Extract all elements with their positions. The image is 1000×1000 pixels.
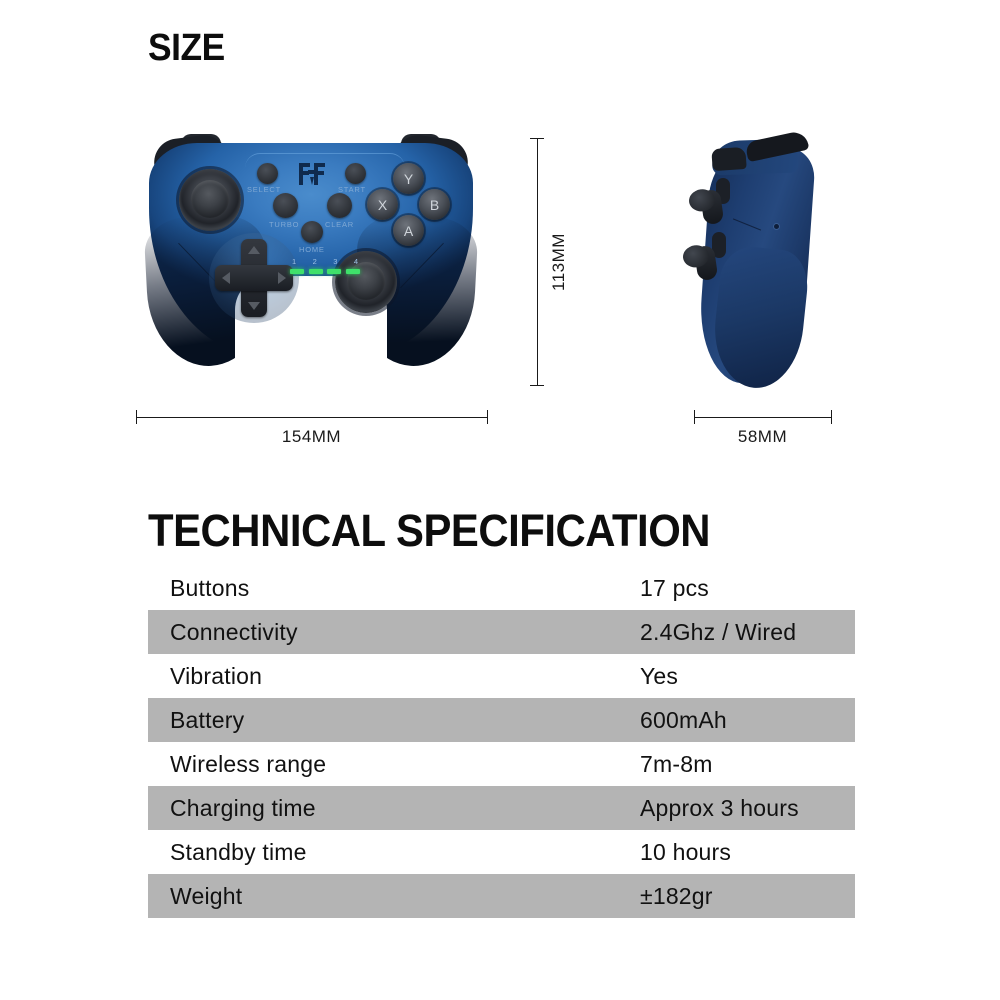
led-numbers: 1 2 3 4 (292, 257, 358, 266)
width-dimension-line (136, 417, 487, 418)
select-button (257, 163, 278, 184)
dpad-down-arrow-icon (248, 302, 260, 310)
spec-row-value: ±182gr (640, 883, 713, 910)
face-button-y: Y (393, 163, 424, 194)
led-number-2: 2 (313, 257, 317, 266)
spec-row-key: Battery (170, 707, 640, 734)
side-trigger-button (711, 147, 746, 171)
width-dimension-label: 154MM (136, 427, 487, 447)
height-dimension-label: 113MM (549, 222, 569, 302)
home-button-label: HOME (299, 245, 325, 254)
spec-row-value: Yes (640, 663, 678, 690)
width-dimension-tick-right (487, 410, 488, 424)
side-stick-cap-2 (682, 244, 711, 269)
depth-dimension-line (694, 417, 831, 418)
depth-dimension-tick-right (831, 410, 832, 424)
product-spec-sheet: SIZE (0, 0, 1000, 1000)
spec-row: VibrationYes (148, 654, 855, 698)
spec-row-value: Approx 3 hours (640, 795, 799, 822)
spec-row: Weight±182gr (148, 874, 855, 918)
left-stick-cap (191, 180, 229, 218)
controller-front-view: Y X B A SELECT START TURBO CLEAR HOME (135, 135, 487, 385)
dpad-up-arrow-icon (248, 246, 260, 254)
spec-row: Charging timeApprox 3 hours (148, 786, 855, 830)
spec-row-value: 2.4Ghz / Wired (640, 619, 796, 646)
start-button (345, 163, 366, 184)
face-button-x: X (367, 189, 398, 220)
side-stick-cap-1 (688, 188, 717, 213)
spec-row: Standby time10 hours (148, 830, 855, 874)
spec-row-key: Vibration (170, 663, 640, 690)
turbo-button-label: TURBO (269, 220, 299, 229)
led-number-4: 4 (354, 257, 358, 266)
led-bar-1 (290, 269, 304, 274)
depth-dimension-tick-left (694, 410, 695, 424)
dpad-right-arrow-icon (278, 272, 286, 284)
led-bars (290, 269, 360, 274)
controller-front-body: Y X B A SELECT START TURBO CLEAR HOME (135, 135, 487, 385)
spec-row-key: Standby time (170, 839, 640, 866)
led-bar-3 (327, 269, 341, 274)
dpad-left-arrow-icon (222, 272, 230, 284)
spec-row-key: Connectivity (170, 619, 640, 646)
height-dimension-tick-bottom (530, 385, 544, 386)
clear-button (327, 193, 352, 218)
side-screw-dot (774, 224, 779, 229)
home-button (301, 221, 323, 243)
led-indicator-group: 1 2 3 4 (290, 257, 362, 274)
depth-dimension-label: 58MM (694, 427, 831, 447)
spec-row-value: 7m-8m (640, 751, 713, 778)
technical-specification-heading: TECHNICAL SPECIFICATION (148, 505, 710, 557)
size-illustration-area: Y X B A SELECT START TURBO CLEAR HOME (0, 100, 1000, 470)
controller-side-view (676, 128, 836, 390)
led-bar-4 (346, 269, 360, 274)
height-dimension-tick-top (530, 138, 544, 139)
width-dimension-tick-left (136, 410, 137, 424)
spec-row: Battery600mAh (148, 698, 855, 742)
right-seam (400, 243, 444, 288)
clear-button-label: CLEAR (325, 220, 354, 229)
led-number-3: 3 (333, 257, 337, 266)
spec-row-value: 17 pcs (640, 575, 709, 602)
dpad (215, 239, 293, 317)
spec-row: Wireless range7m-8m (148, 742, 855, 786)
spec-row-value: 10 hours (640, 839, 731, 866)
start-button-label: START (338, 185, 366, 194)
face-button-a: A (393, 215, 424, 246)
spec-row-key: Wireless range (170, 751, 640, 778)
turbo-button (273, 193, 298, 218)
fantech-logo-icon (295, 161, 329, 191)
height-dimension-line (537, 138, 538, 385)
select-button-label: SELECT (247, 185, 281, 194)
spec-row-key: Buttons (170, 575, 640, 602)
face-button-b: B (419, 189, 450, 220)
size-section-heading: SIZE (148, 27, 225, 70)
led-bar-2 (309, 269, 323, 274)
spec-row-key: Weight (170, 883, 640, 910)
led-number-1: 1 (292, 257, 296, 266)
technical-specification-table: Buttons17 pcsConnectivity2.4Ghz / WiredV… (148, 566, 855, 918)
spec-row: Connectivity2.4Ghz / Wired (148, 610, 855, 654)
left-analog-stick (179, 169, 241, 231)
spec-row: Buttons17 pcs (148, 566, 855, 610)
spec-row-key: Charging time (170, 795, 640, 822)
spec-row-value: 600mAh (640, 707, 727, 734)
